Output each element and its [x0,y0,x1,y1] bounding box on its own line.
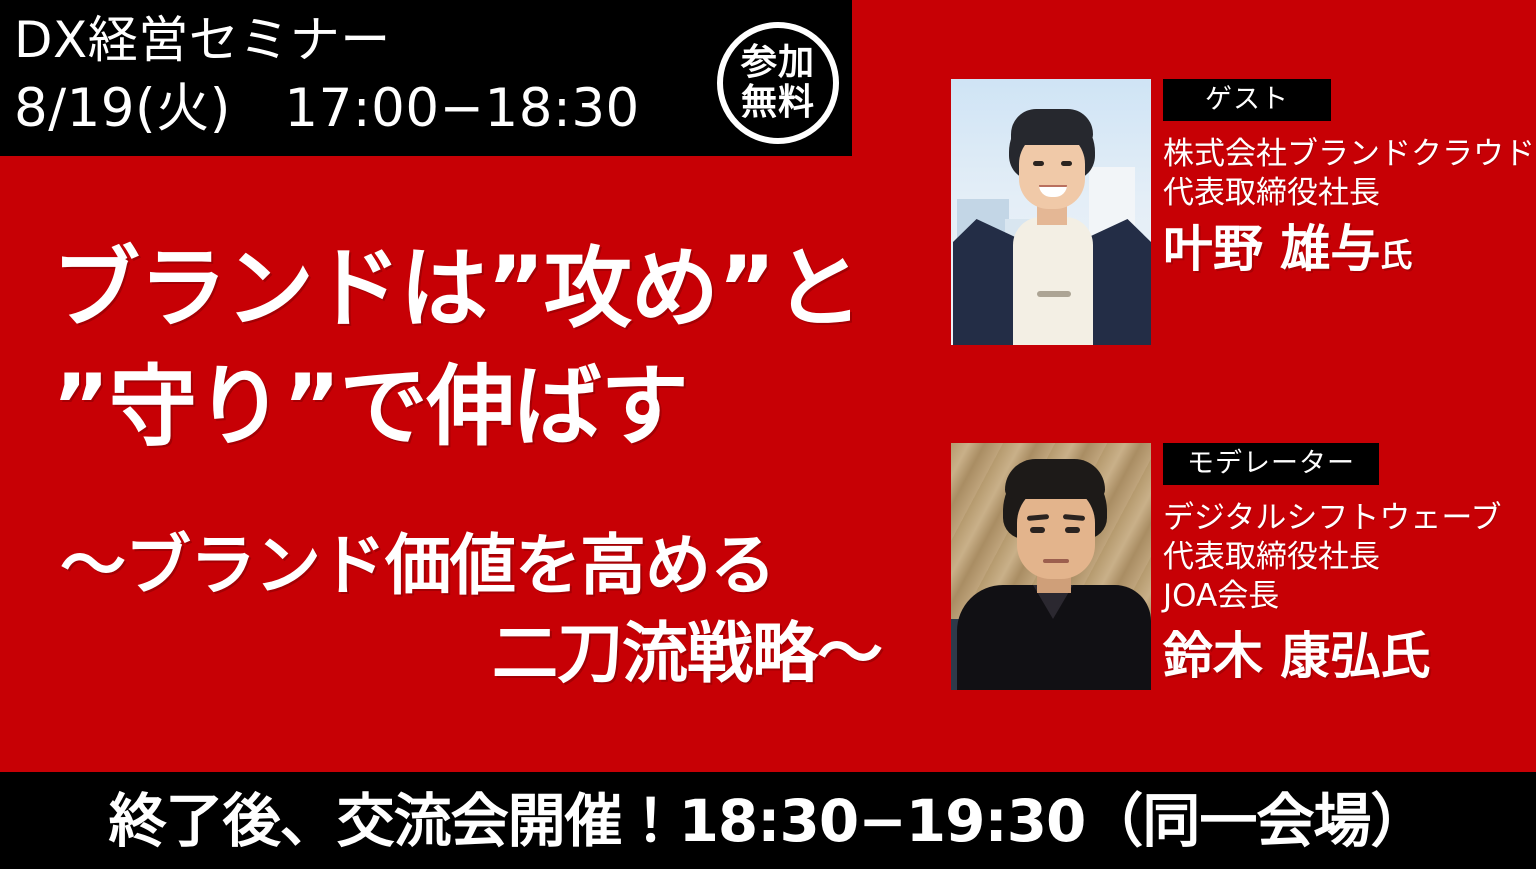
moderator-honorific: 氏 [1380,627,1430,685]
free-badge-line1: 参加 [741,43,815,83]
footer-band: 終了後、交流会開催！18:30−19:30（同一会場） [0,772,1536,869]
guest-name: 叶野 雄与 [1163,220,1380,278]
seminar-title: DX経営セミナー [14,10,391,70]
moderator-photo-mouth [1043,559,1069,563]
moderator-photo-face [1017,485,1095,579]
guest-photo-fringe [1011,109,1093,145]
moderator-affiliation-line-1: デジタルシフトウェーブ [1163,499,1502,538]
guest-affiliation-line-1: 株式会社ブランドクラウド [1163,135,1535,174]
free-badge-line2: 無料 [741,83,815,123]
moderator-info: モデレーター デジタルシフトウェーブ 代表取締役社長 JOA会長 鈴木 康弘氏 [1163,443,1502,686]
headline-line-1: ブランドは”攻め”と [52,230,912,348]
moderator-photo-eye-left [1030,527,1045,533]
guest-affiliation-line-2: 代表取締役社長 [1163,174,1535,213]
subheadline-line-2: 二刀流戦略〜 [60,610,920,698]
guest-photo-eye-right [1061,161,1072,166]
moderator-role-tag: モデレーター [1163,443,1379,485]
headline-line-2: ”守り”で伸ばす [52,348,912,466]
moderator-affiliation-line-3: JOA会長 [1163,577,1502,616]
seminar-schedule: 8/19(火) 17:00−18:30 [14,78,640,140]
moderator-name: 鈴木 康弘 [1163,627,1380,685]
seminar-poster: DX経営セミナー 8/19(火) 17:00−18:30 参加 無料 ブランドは… [0,0,1536,869]
speaker-moderator: モデレーター デジタルシフトウェーブ 代表取締役社長 JOA会長 鈴木 康弘氏 [951,443,1502,690]
networking-notice: 終了後、交流会開催！18:30−19:30（同一会場） [109,789,1428,853]
guest-portrait-photo [951,79,1151,345]
subheadline-line-1: 〜ブランド価値を高める [60,522,920,610]
moderator-portrait-photo [951,443,1151,690]
moderator-photo-fringe [1005,459,1105,499]
moderator-name-row: 鈴木 康弘氏 [1163,626,1502,686]
guest-role-tag: ゲスト [1163,79,1331,121]
guest-info: ゲスト 株式会社ブランドクラウド 代表取締役社長 叶野 雄与氏 [1163,79,1535,285]
speaker-guest: ゲスト 株式会社ブランドクラウド 代表取締役社長 叶野 雄与氏 [951,79,1535,345]
guest-name-row: 叶野 雄与氏 [1163,219,1535,285]
header-bar: DX経営セミナー 8/19(火) 17:00−18:30 参加 無料 [0,0,852,156]
headline: ブランドは”攻め”と ”守り”で伸ばす [52,230,912,466]
guest-honorific: 氏 [1380,236,1412,274]
guest-photo-eye-left [1033,161,1044,166]
moderator-photo-eye-right [1065,527,1080,533]
guest-photo-shirt-logo [1037,291,1071,297]
guest-photo-shirt [1013,217,1093,345]
subheadline: 〜ブランド価値を高める 二刀流戦略〜 [60,522,920,698]
guest-affiliation: 株式会社ブランドクラウド 代表取締役社長 [1163,135,1535,213]
moderator-affiliation: デジタルシフトウェーブ 代表取締役社長 JOA会長 [1163,499,1502,616]
free-entry-badge: 参加 無料 [717,22,839,144]
moderator-affiliation-line-2: 代表取締役社長 [1163,538,1502,577]
